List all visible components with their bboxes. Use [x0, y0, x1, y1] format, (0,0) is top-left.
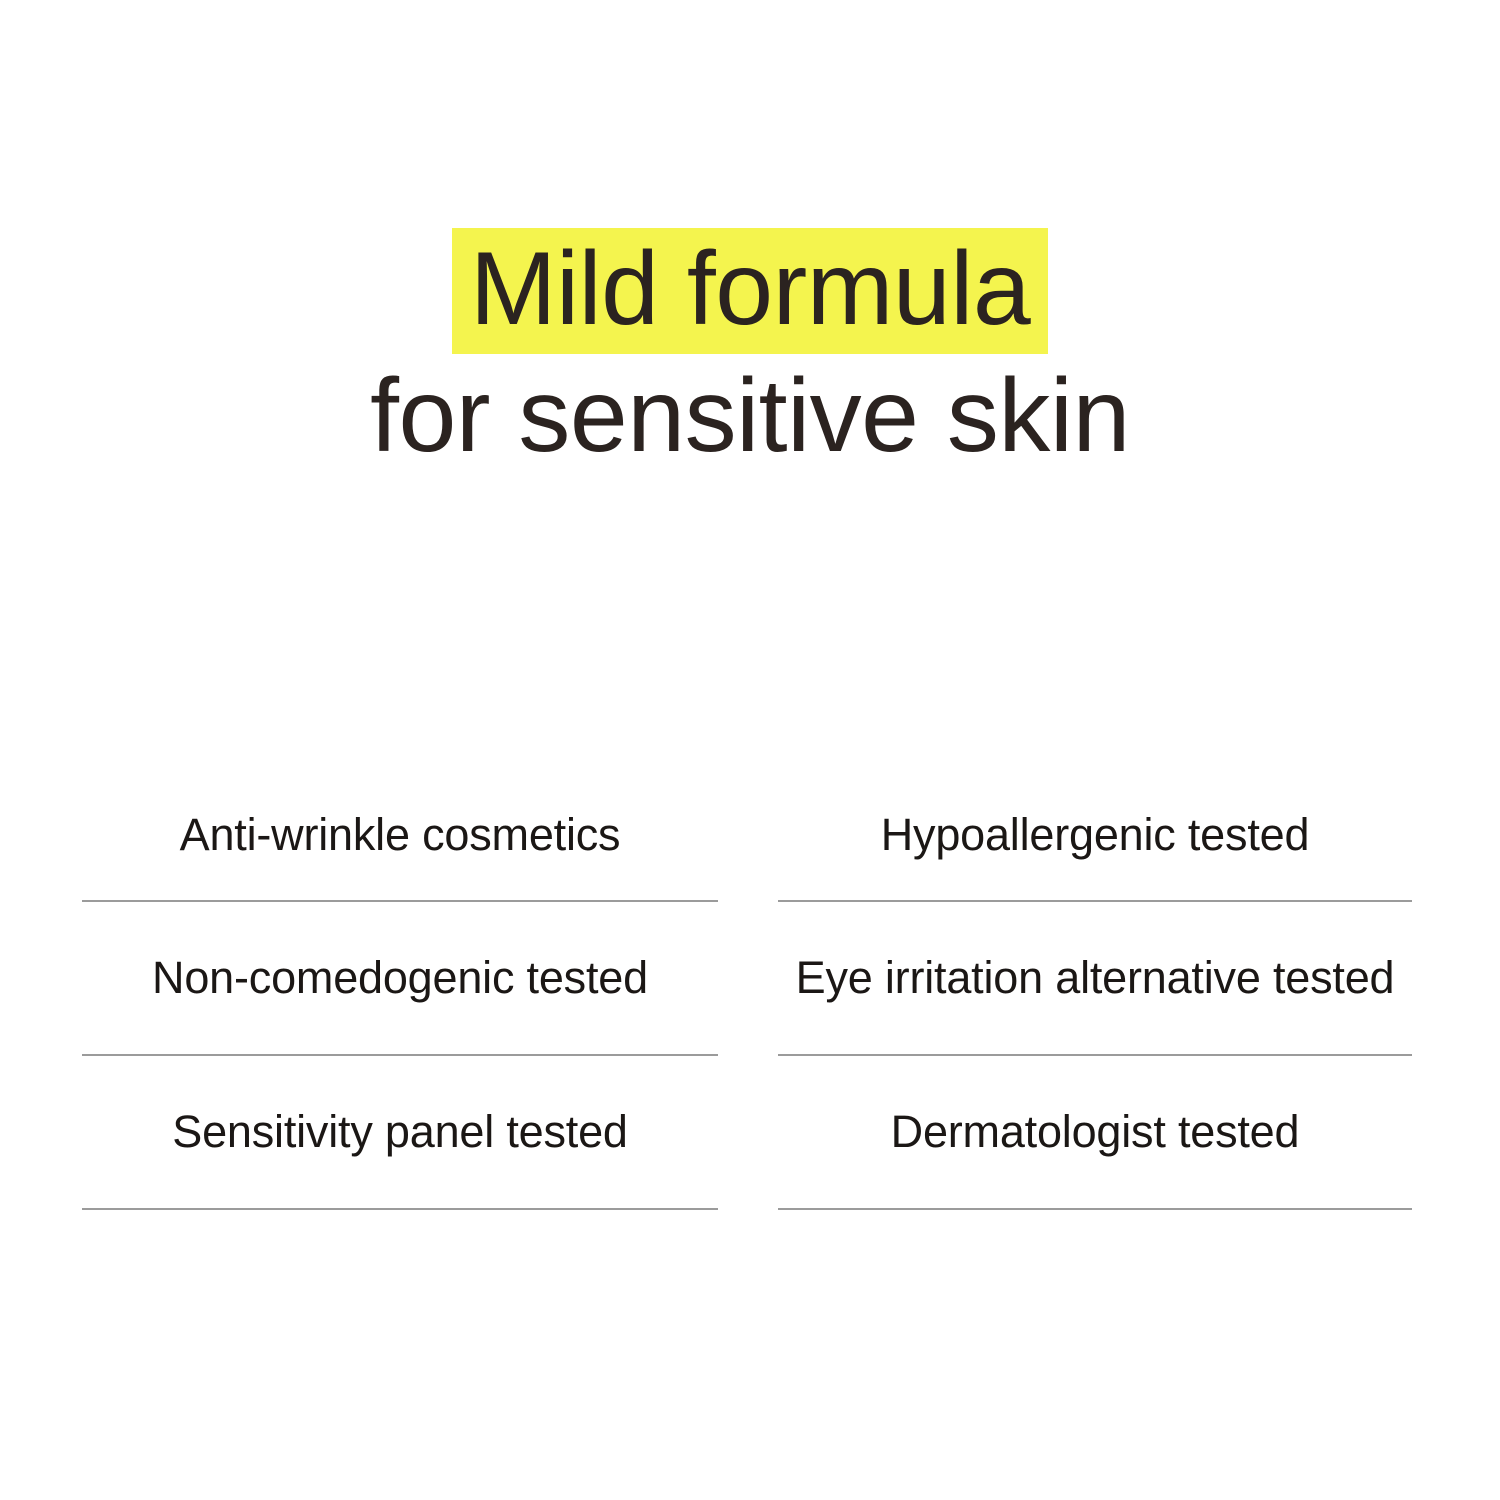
headline-line-1: Mild formula: [0, 228, 1500, 354]
list-item: Dermatologist tested: [778, 1056, 1412, 1210]
list-item: Hypoallergenic tested: [778, 770, 1412, 902]
headline-highlight-text: Mild formula: [452, 228, 1048, 354]
spec-grid: Anti-wrinkle cosmetics Non-comedogenic t…: [82, 770, 1412, 1210]
spec-label: Hypoallergenic tested: [881, 810, 1310, 860]
list-item: Eye irritation alternative tested: [778, 902, 1412, 1056]
product-claims-panel: Mild formula for sensitive skin Anti-wri…: [0, 0, 1500, 1500]
spec-label: Eye irritation alternative tested: [796, 953, 1395, 1003]
list-item: Sensitivity panel tested: [82, 1056, 718, 1210]
page-headline: Mild formula for sensitive skin: [0, 228, 1500, 468]
spec-column-right: Hypoallergenic tested Eye irritation alt…: [778, 770, 1412, 1210]
spec-label: Anti-wrinkle cosmetics: [180, 810, 621, 860]
list-item: Anti-wrinkle cosmetics: [82, 770, 718, 902]
spec-label: Non-comedogenic tested: [152, 953, 648, 1003]
spec-label: Sensitivity panel tested: [172, 1107, 627, 1157]
list-item: Non-comedogenic tested: [82, 902, 718, 1056]
spec-label: Dermatologist tested: [891, 1107, 1300, 1157]
column-gutter: [718, 770, 778, 1210]
spec-column-left: Anti-wrinkle cosmetics Non-comedogenic t…: [82, 770, 718, 1210]
headline-line-2: for sensitive skin: [0, 364, 1500, 468]
